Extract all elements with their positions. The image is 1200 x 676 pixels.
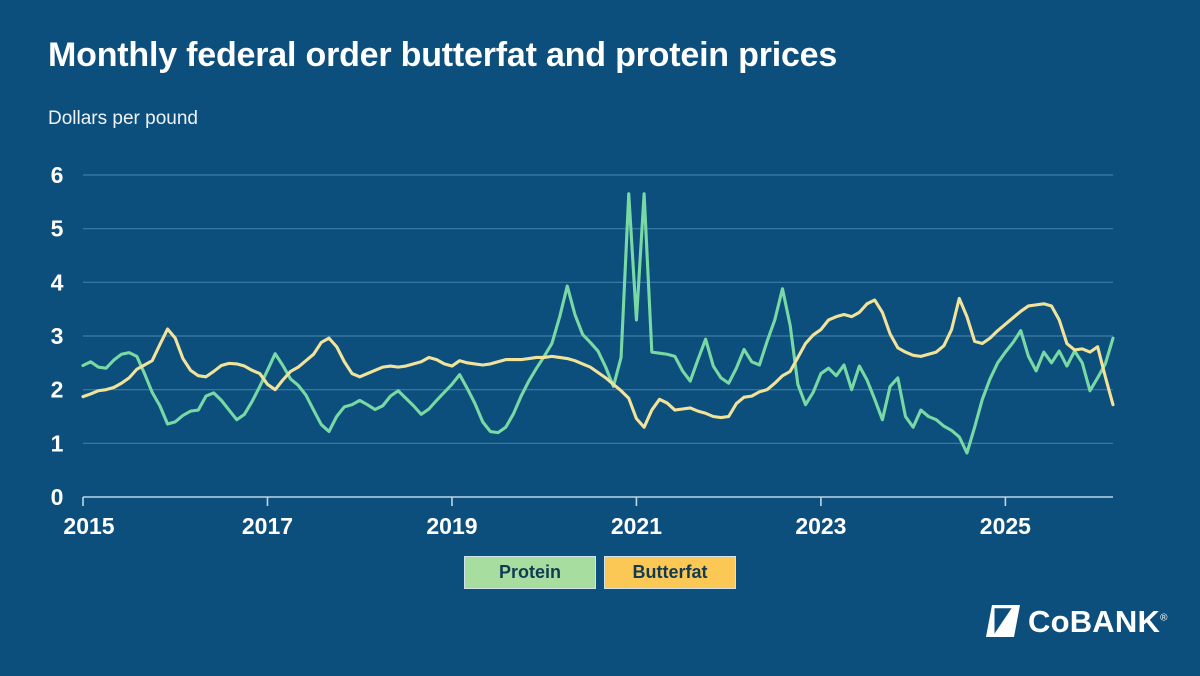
series-line-butterfat (83, 298, 1113, 427)
y-tick-label: 2 (51, 377, 64, 403)
legend-item-butterfat[interactable]: Butterfat (604, 556, 736, 589)
x-tick-label: 2021 (611, 513, 662, 539)
x-axis (83, 497, 1113, 506)
x-tick-label: 2015 (63, 513, 114, 539)
cobank-logo: CoBANK® (985, 604, 1168, 638)
x-tick-label: 2023 (795, 513, 846, 539)
data-series-group (83, 194, 1113, 453)
cobank-wordmark: CoBANK® (1028, 606, 1168, 637)
cobank-mark-icon (985, 604, 1021, 638)
y-tick-label: 0 (51, 484, 64, 510)
gridlines (83, 175, 1113, 443)
registered-trademark-icon: ® (1160, 612, 1168, 623)
y-tick-label: 6 (51, 162, 64, 188)
legend-label-protein: Protein (499, 562, 561, 583)
cobank-wordmark-text: CoBANK (1028, 604, 1160, 639)
y-tick-label: 1 (51, 430, 64, 456)
legend-item-protein[interactable]: Protein (464, 556, 596, 589)
y-tick-label: 5 (51, 216, 64, 242)
y-tick-label: 3 (51, 323, 64, 349)
y-axis-tick-labels: 0123456 (51, 162, 64, 510)
x-axis-tick-labels: 201520172019202120232025 (63, 513, 1031, 539)
chart-legend: Protein Butterfat (0, 556, 1200, 589)
series-line-protein (83, 194, 1113, 453)
x-tick-label: 2017 (242, 513, 293, 539)
x-tick-label: 2025 (980, 513, 1031, 539)
legend-label-butterfat: Butterfat (633, 562, 708, 583)
y-tick-label: 4 (51, 269, 64, 295)
chart-canvas: Monthly federal order butterfat and prot… (0, 0, 1200, 676)
x-tick-label: 2019 (426, 513, 477, 539)
